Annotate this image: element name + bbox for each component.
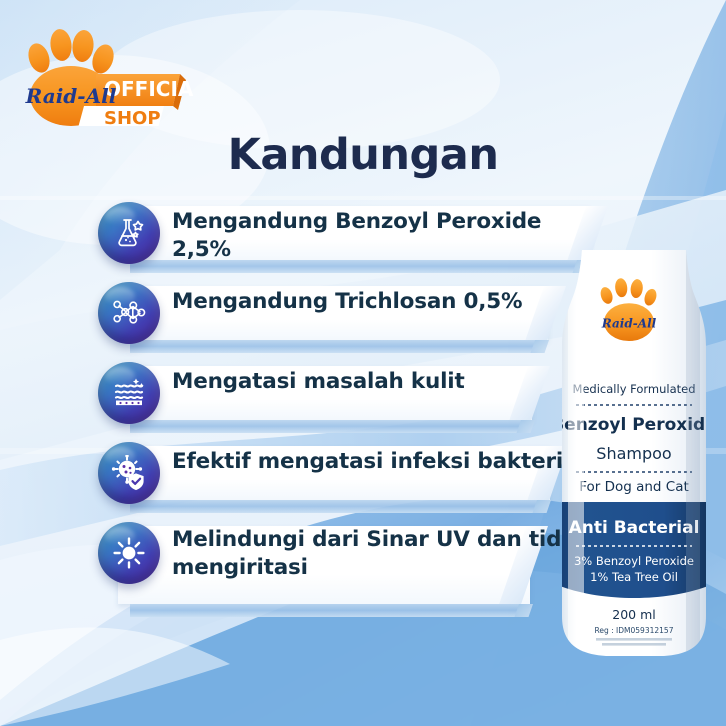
- product-bottle-svg: Raid-All Medically Formulated Benzoyl Pe…: [546, 250, 722, 662]
- shop-label: SHOP: [104, 108, 161, 126]
- product-bottle: Raid-All Medically Formulated Benzoyl Pe…: [546, 250, 722, 662]
- brand-logo[interactable]: OFFICIAL SHOP Raid-All: [12, 14, 194, 124]
- virus-shield-icon-svg: [111, 455, 147, 491]
- feature-bar-shadow: [130, 420, 524, 433]
- page-title: Kandungan: [0, 130, 726, 180]
- infographic-canvas: OFFICIAL SHOP Raid-All Kandungan: [0, 0, 726, 726]
- official-label: OFFICIAL: [104, 77, 194, 101]
- sun-icon-svg: [112, 536, 146, 570]
- brand-logo-svg: OFFICIAL SHOP Raid-All: [12, 14, 194, 126]
- feature-label: Mengandung Benzoyl Peroxide 2,5%: [172, 208, 592, 263]
- shop-banner: SHOP: [78, 106, 164, 126]
- molecule-icon-svg: [111, 296, 147, 330]
- bottle-wordmark: Raid-All: [601, 316, 657, 330]
- feature-bar-shadow: [130, 500, 540, 513]
- bottle-banner-line-2: 1% Tea Tree Oil: [590, 570, 678, 584]
- feature-bar-shadow: [130, 604, 522, 617]
- bottle-line-1: Medically Formulated: [572, 382, 695, 396]
- feature-label: Efektif mengatasi infeksi bakteri: [172, 448, 592, 476]
- bottle-banner-title: Anti Bacterial: [569, 518, 700, 538]
- feature-label: Mengatasi masalah kulit: [172, 368, 592, 396]
- bottle-line-4: For Dog and Cat: [579, 479, 689, 495]
- virus-shield-icon: [98, 442, 160, 504]
- skin-icon-svg: [111, 376, 147, 410]
- skin-icon: [98, 362, 160, 424]
- flask-icon: [98, 202, 160, 264]
- feature-label: Melindungi dari Sinar UV dan tidak mengi…: [172, 526, 592, 581]
- feature-label: Mengandung Trichlosan 0,5%: [172, 288, 592, 316]
- bottle-banner-line-1: 3% Benzoyl Peroxide: [574, 554, 694, 568]
- feature-bar-shadow: [130, 340, 538, 353]
- bottle-registration: Reg : IDM059312157: [595, 626, 674, 635]
- molecule-icon: [98, 282, 160, 344]
- flask-icon-svg: [111, 215, 147, 251]
- bottle-line-3: Shampoo: [596, 444, 671, 463]
- bottle-volume: 200 ml: [612, 607, 655, 622]
- sun-icon: [98, 522, 160, 584]
- logo-wordmark: Raid-All: [25, 84, 117, 108]
